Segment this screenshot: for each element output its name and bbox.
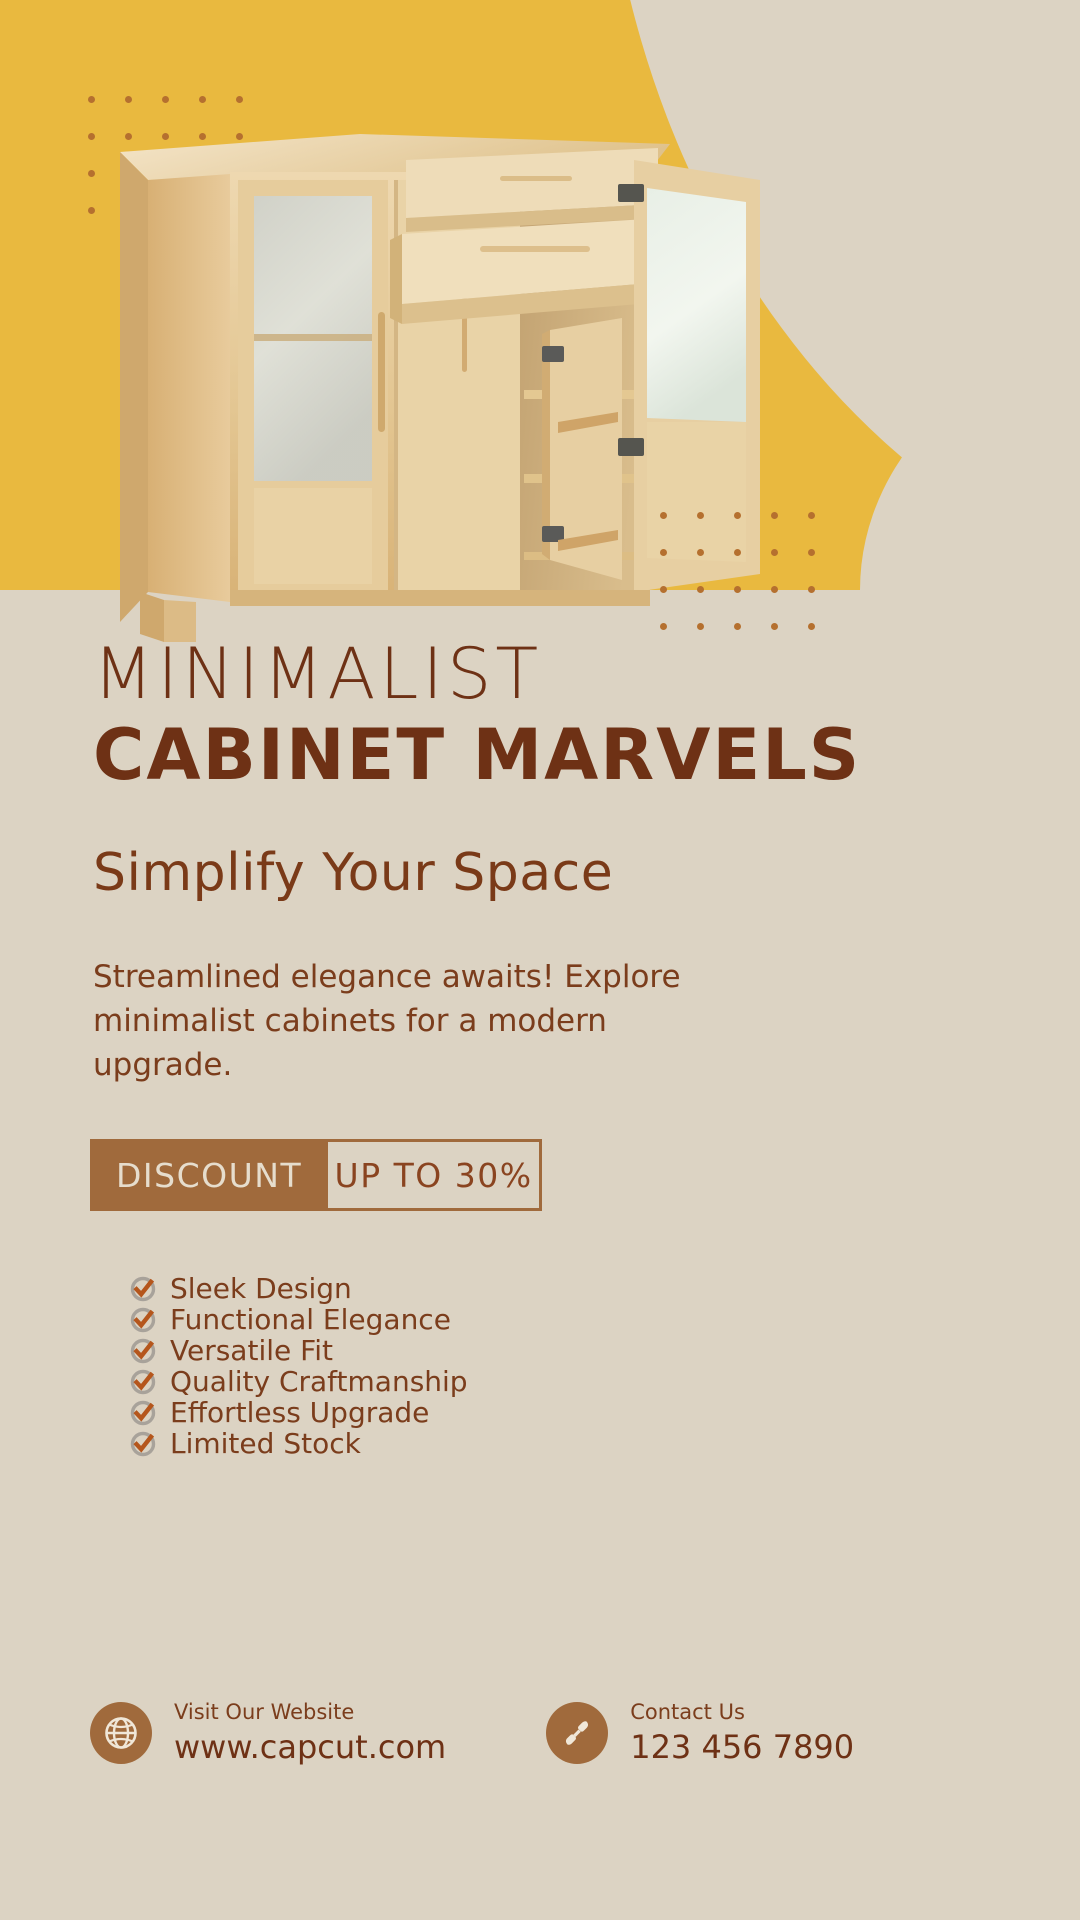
contact-website-value: www.capcut.com — [174, 1728, 446, 1766]
list-item: Quality Craftmanship — [130, 1366, 1080, 1397]
globe-icon — [90, 1702, 152, 1764]
contact-website-caption: Visit Our Website — [174, 1700, 446, 1724]
headline-line-1: MINIMALIST — [93, 640, 1080, 709]
hero-section — [0, 0, 1080, 700]
check-circle-icon — [130, 1400, 156, 1426]
feature-list: Sleek Design Functional Elegance — [130, 1273, 1080, 1459]
feature-label: Versatile Fit — [170, 1334, 333, 1367]
footer-contacts: Visit Our Website www.capcut.com Contact… — [0, 1700, 1080, 1766]
headline-line-2: CABINET MARVELS — [93, 721, 1080, 790]
contact-phone-caption: Contact Us — [630, 1700, 854, 1724]
list-item: Limited Stock — [130, 1428, 1080, 1459]
subheadline: Simplify Your Space — [93, 843, 1080, 903]
discount-value: UP TO 30% — [328, 1139, 542, 1211]
feature-label: Effortless Upgrade — [170, 1396, 429, 1429]
contact-phone-value: 123 456 7890 — [630, 1728, 854, 1766]
check-circle-icon — [130, 1369, 156, 1395]
list-item: Sleek Design — [130, 1273, 1080, 1304]
check-circle-icon — [130, 1338, 156, 1364]
list-item: Versatile Fit — [130, 1335, 1080, 1366]
contact-phone-text: Contact Us 123 456 7890 — [630, 1700, 854, 1766]
feature-label: Limited Stock — [170, 1427, 361, 1460]
dot-pattern-bottom-right — [660, 512, 815, 630]
contact-website-text: Visit Our Website www.capcut.com — [174, 1700, 446, 1766]
phone-icon — [546, 1702, 608, 1764]
contact-phone[interactable]: Contact Us 123 456 7890 — [546, 1700, 854, 1766]
check-circle-icon — [130, 1307, 156, 1333]
check-circle-icon — [130, 1431, 156, 1457]
content-section: MINIMALIST CABINET MARVELS Simplify Your… — [0, 640, 1080, 1459]
body-copy: Streamlined elegance awaits! Explore min… — [93, 955, 733, 1087]
list-item: Functional Elegance — [130, 1304, 1080, 1335]
discount-badge[interactable]: DISCOUNT UP TO 30% — [90, 1139, 542, 1211]
contact-website[interactable]: Visit Our Website www.capcut.com — [90, 1700, 446, 1766]
page-title: MINIMALIST CABINET MARVELS — [93, 640, 1080, 789]
list-item: Effortless Upgrade — [130, 1397, 1080, 1428]
discount-label: DISCOUNT — [90, 1139, 328, 1211]
feature-label: Quality Craftmanship — [170, 1365, 468, 1398]
feature-label: Sleek Design — [170, 1272, 352, 1305]
promo-poster: MINIMALIST CABINET MARVELS Simplify Your… — [0, 0, 1080, 1920]
check-circle-icon — [130, 1276, 156, 1302]
feature-label: Functional Elegance — [170, 1303, 451, 1336]
